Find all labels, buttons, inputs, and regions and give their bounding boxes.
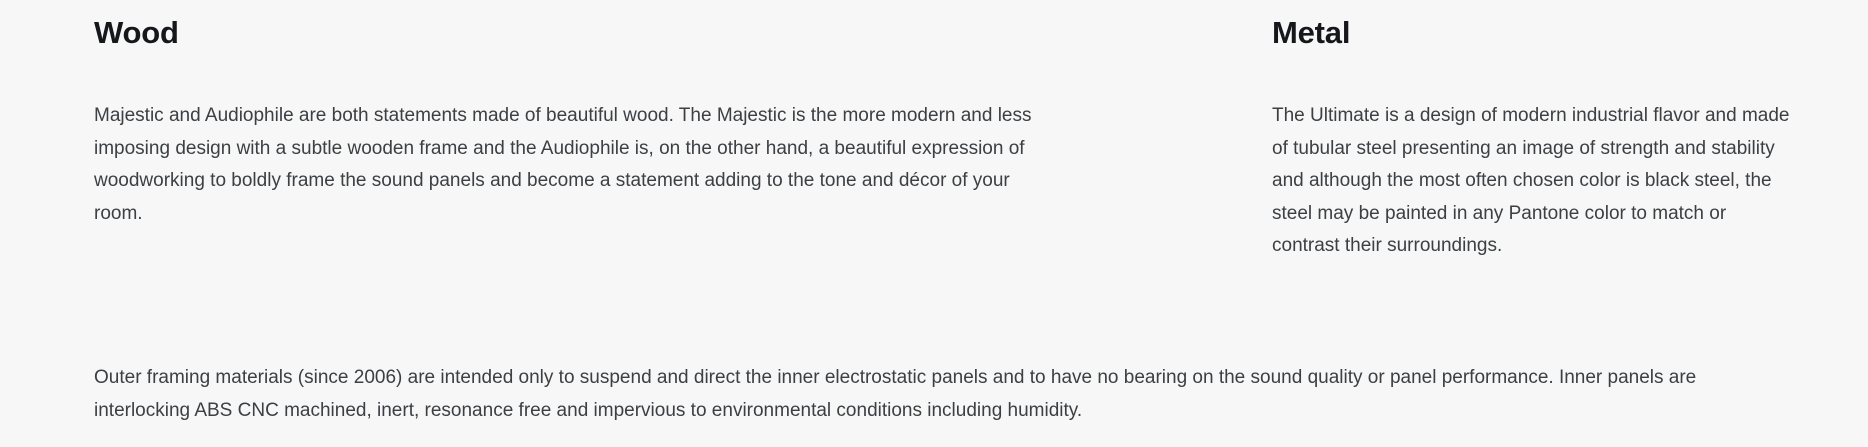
paragraph-wood: Majestic and Audiophile are both stateme… — [94, 100, 1039, 230]
two-column-layout: Wood Majestic and Audiophile are both st… — [0, 0, 1868, 263]
materials-section: Wood Majestic and Audiophile are both st… — [0, 0, 1868, 447]
paragraph-metal: The Ultimate is a design of modern indus… — [1272, 100, 1792, 263]
heading-metal: Metal — [1272, 14, 1798, 52]
column-metal: Metal The Ultimate is a design of modern… — [1190, 0, 1868, 263]
heading-wood: Wood — [94, 14, 1190, 52]
footnote-block: Outer framing materials (since 2006) are… — [94, 362, 1794, 427]
paragraph-footnote: Outer framing materials (since 2006) are… — [94, 362, 1784, 427]
column-wood: Wood Majestic and Audiophile are both st… — [0, 0, 1190, 230]
